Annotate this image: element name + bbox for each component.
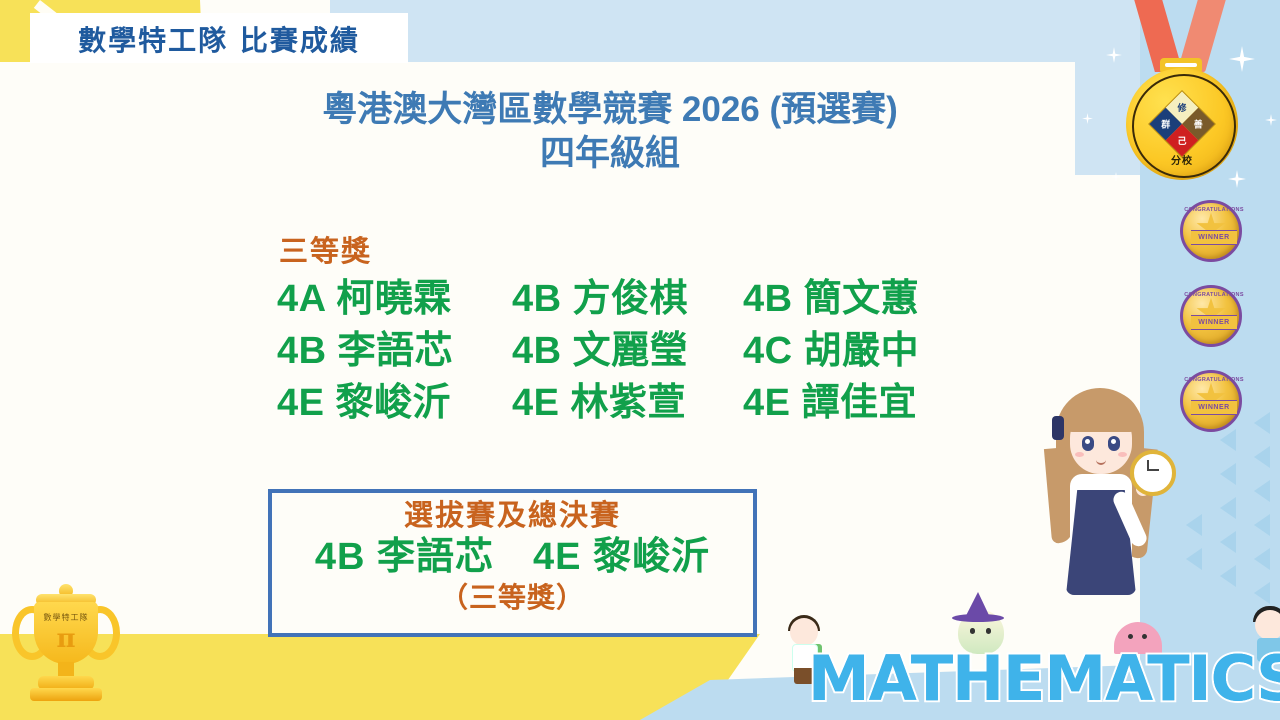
badge-ribbon-text: WINNER bbox=[1191, 315, 1237, 330]
girl-blush-right bbox=[1118, 452, 1127, 457]
list-item: 4B 文麗瑩 bbox=[508, 326, 743, 376]
girl-collar bbox=[1088, 476, 1114, 490]
girl-eye-left bbox=[1082, 436, 1094, 451]
pi-symbol-icon: π bbox=[6, 624, 126, 654]
page-title-line-2: 四年級組 bbox=[200, 132, 1020, 176]
list-item: 4E 黎峻沂 bbox=[273, 378, 508, 428]
winner-names-grid: 4A 柯曉霖 4B 方俊棋 4B 簡文蕙 4B 李語芯 4B 文麗瑩 4C 胡嚴… bbox=[273, 274, 973, 428]
mathematics-banner: MATHEMATICS MATHEMATICS bbox=[780, 600, 1260, 720]
award-level-label: 三等獎 bbox=[279, 228, 973, 270]
girl-blush-left bbox=[1075, 452, 1084, 457]
trophy-icon: 數學特工隊 π bbox=[6, 580, 126, 710]
final-round-names: 4B 李語芯 4E 黎峻沂 bbox=[315, 535, 710, 581]
mathematics-word: MATHEMATICS bbox=[808, 642, 1248, 715]
emblem-char: 修 bbox=[1177, 101, 1186, 114]
girl-eye-right bbox=[1108, 436, 1120, 451]
school-medal-icon: 修 善 群 己 分校 bbox=[1100, 0, 1268, 186]
winner-badge-icon: CONGRATULATIONS WINNER bbox=[1180, 200, 1242, 262]
badge-top-text: CONGRATULATIONS bbox=[1183, 377, 1245, 383]
final-round-award-note: （三等獎） bbox=[440, 581, 585, 615]
list-item: 4B 李語芯 bbox=[273, 326, 508, 376]
medal-disc: 修 善 群 己 分校 bbox=[1126, 68, 1238, 180]
girl-hair-bow bbox=[1052, 416, 1064, 440]
winner-badge-icon: CONGRATULATIONS WINNER bbox=[1180, 370, 1242, 432]
emblem-char: 善 bbox=[1194, 117, 1203, 130]
list-item: 4B 簡文蕙 bbox=[743, 274, 973, 324]
badge-ribbon-text: WINNER bbox=[1191, 230, 1237, 245]
medal-bottom-text: 分校 bbox=[1126, 152, 1238, 167]
badge-ribbon-text: WINNER bbox=[1191, 400, 1237, 415]
header-banner-title: 數學特工隊 比賽成績 bbox=[30, 16, 408, 62]
list-item: 4B 方俊棋 bbox=[508, 274, 743, 324]
list-item: 4C 胡嚴中 bbox=[743, 326, 973, 376]
page-title-line-1: 粵港澳大灣區數學競賽 2026 (預選賽) bbox=[322, 90, 898, 129]
list-item: 4E 譚佳宜 bbox=[743, 378, 973, 428]
girl-character-illustration bbox=[1030, 378, 1170, 613]
emblem-char: 己 bbox=[1177, 134, 1186, 147]
list-item: 4E 林紫萱 bbox=[508, 378, 743, 428]
badge-top-text: CONGRATULATIONS bbox=[1183, 207, 1245, 213]
badge-top-text: CONGRATULATIONS bbox=[1183, 292, 1245, 298]
emblem-char: 群 bbox=[1161, 117, 1170, 130]
page-title: 粵港澳大灣區數學競賽 2026 (預選賽) 四年級組 bbox=[200, 88, 1020, 177]
list-item: 4A 柯曉霖 bbox=[273, 274, 508, 324]
clock-icon bbox=[1130, 450, 1176, 496]
final-round-box: 選拔賽及總決賽 4B 李語芯 4E 黎峻沂 （三等獎） bbox=[268, 489, 757, 637]
award-section: 三等獎 4A 柯曉霖 4B 方俊棋 4B 簡文蕙 4B 李語芯 4B 文麗瑩 4… bbox=[273, 228, 973, 428]
winner-badge-icon: CONGRATULATIONS WINNER bbox=[1180, 285, 1242, 347]
slide-root: 數學特工隊 比賽成績 粵港澳大灣區數學競賽 2026 (預選賽) 四年級組 三等… bbox=[0, 0, 1280, 720]
trophy-team-text: 數學特工隊 bbox=[6, 612, 126, 623]
trophy-base-lower bbox=[30, 688, 102, 701]
girl-hair-bangs bbox=[1062, 392, 1140, 432]
final-round-heading: 選拔賽及總決賽 bbox=[404, 498, 621, 534]
